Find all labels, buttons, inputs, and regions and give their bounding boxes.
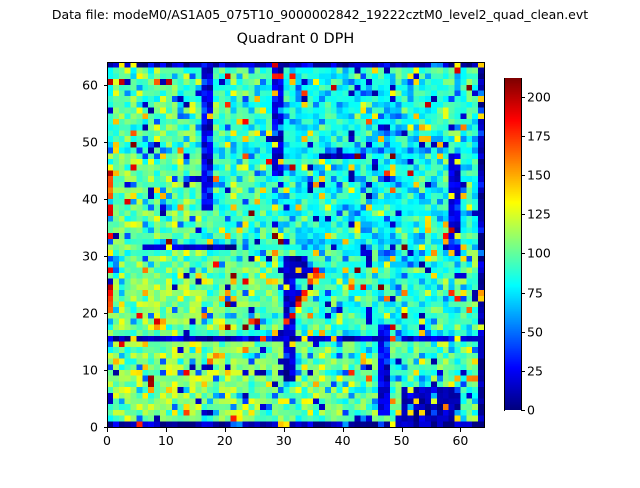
colorbar-tick-label: 50 — [527, 324, 543, 339]
colorbar-tick-label: 175 — [527, 128, 551, 143]
data-file-label: Data file: modeM0/AS1A05_075T10_90000028… — [0, 7, 640, 22]
colorbar-tick-mark — [521, 253, 525, 254]
detector-heatmap-image[interactable] — [107, 62, 484, 427]
colorbar-tick-mark — [521, 214, 525, 215]
y-tick-mark — [104, 142, 108, 143]
y-tick-mark — [104, 427, 108, 428]
x-tick-label: 20 — [217, 433, 233, 448]
colorbar-tick-mark — [521, 332, 525, 333]
colorbar-tick-mark — [521, 136, 525, 137]
figure-canvas: Data file: modeM0/AS1A05_075T10_90000028… — [0, 0, 640, 480]
colorbar-tick-label: 200 — [527, 89, 551, 104]
axis-spine-top — [107, 62, 485, 63]
x-tick-mark — [343, 428, 344, 432]
colorbar-tick-mark — [521, 97, 525, 98]
axis-spine-bottom — [107, 427, 485, 428]
x-tick-label: 50 — [394, 433, 410, 448]
colorbar-tick-label: 125 — [527, 207, 551, 222]
y-tick-label: 20 — [82, 305, 98, 320]
y-tick-mark — [104, 313, 108, 314]
y-tick-label: 50 — [82, 134, 98, 149]
y-tick-label: 40 — [82, 191, 98, 206]
x-tick-label: 60 — [452, 433, 468, 448]
colorbar-tick-label: 0 — [527, 403, 535, 418]
x-tick-label: 0 — [103, 433, 111, 448]
y-tick-mark — [104, 370, 108, 371]
x-tick-mark — [460, 428, 461, 432]
colorbar-tick-mark — [521, 293, 525, 294]
y-tick-mark — [104, 256, 108, 257]
colorbar-tick-label: 75 — [527, 285, 543, 300]
x-tick-mark — [166, 428, 167, 432]
colorbar-gradient — [505, 78, 521, 410]
colorbar-tick-label: 150 — [527, 168, 551, 183]
axis-spine-left — [107, 62, 108, 428]
colorbar-tick-label: 100 — [527, 246, 551, 261]
y-tick-label: 10 — [82, 362, 98, 377]
colorbar-tick-mark — [521, 410, 525, 411]
axis-spine-right — [484, 62, 485, 428]
y-tick-label: 60 — [82, 77, 98, 92]
colorbar-spine-right — [521, 78, 522, 411]
y-tick-mark — [104, 199, 108, 200]
x-tick-mark — [225, 428, 226, 432]
colorbar-tick-label: 25 — [527, 363, 543, 378]
x-tick-label: 30 — [276, 433, 292, 448]
x-tick-label: 40 — [335, 433, 351, 448]
x-tick-mark — [284, 428, 285, 432]
y-tick-label: 30 — [82, 248, 98, 263]
x-tick-mark — [107, 428, 108, 432]
x-tick-mark — [402, 428, 403, 432]
x-tick-label: 10 — [158, 433, 174, 448]
colorbar-tick-mark — [521, 175, 525, 176]
colorbar-spine-left — [504, 78, 505, 411]
page-title: Quadrant 0 DPH — [107, 31, 484, 47]
colorbar-tick-mark — [521, 371, 525, 372]
y-tick-mark — [104, 85, 108, 86]
heatmap-axes[interactable] — [107, 62, 484, 427]
y-tick-label: 0 — [90, 420, 98, 435]
